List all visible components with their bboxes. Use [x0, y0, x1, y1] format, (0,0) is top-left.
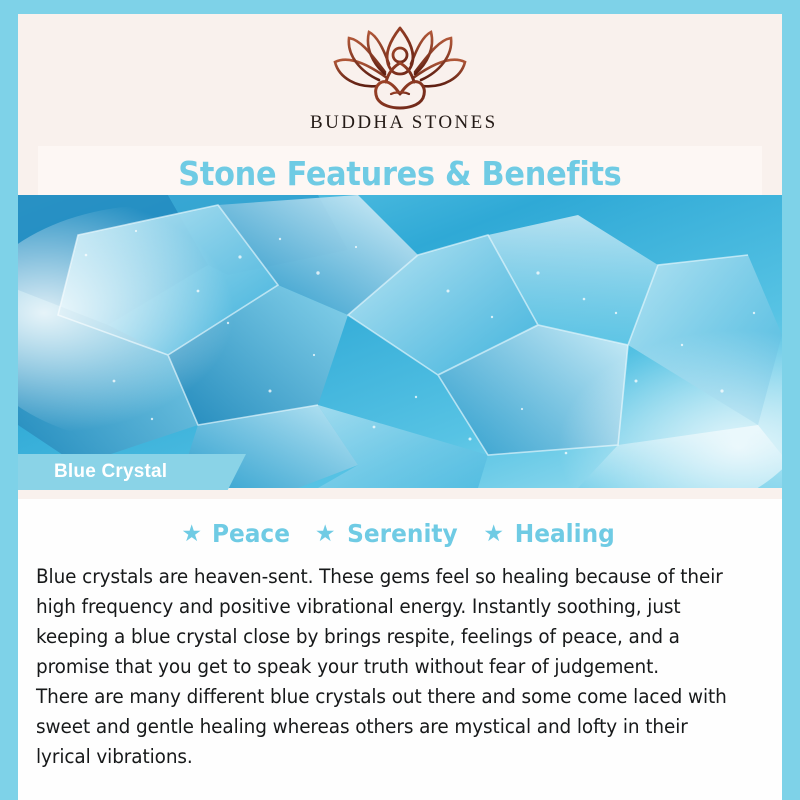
- description-text: Blue crystals are heaven-sent. These gem…: [36, 562, 743, 772]
- poster-root: BUDDHA STONES Stone Features & Benefits: [0, 0, 800, 800]
- stone-name-label: Blue Crystal: [54, 461, 167, 483]
- keyword-serenity: ★ Serenity: [315, 519, 462, 548]
- brand-logo: BUDDHA STONES: [310, 22, 490, 134]
- keyword-row: ★ Peace ★ Serenity ★ Healing: [18, 519, 782, 548]
- star-icon: ★: [315, 522, 336, 545]
- lotus-meditation-icon: [325, 22, 475, 110]
- keyword-healing: ★ Healing: [483, 519, 618, 548]
- title-band: Stone Features & Benefits: [38, 146, 762, 200]
- description-paragraph-1: Blue crystals are heaven-sent. These gem…: [36, 562, 743, 682]
- keyword-label: Serenity: [347, 519, 458, 548]
- hero-image: [18, 195, 782, 488]
- stone-name-ribbon: Blue Crystal: [18, 454, 246, 490]
- description-paragraph-2: There are many different blue crystals o…: [36, 682, 743, 772]
- keyword-label: Peace: [212, 519, 290, 548]
- brand-header: BUDDHA STONES: [18, 14, 782, 144]
- blue-crystal-illustration: [18, 195, 782, 488]
- keyword-peace: ★ Peace: [181, 519, 293, 548]
- page-title: Stone Features & Benefits: [178, 154, 621, 193]
- brand-name: BUDDHA STONES: [310, 112, 490, 134]
- star-icon: ★: [181, 522, 202, 545]
- star-icon: ★: [483, 522, 504, 545]
- content-card: BUDDHA STONES Stone Features & Benefits: [18, 14, 782, 800]
- keyword-label: Healing: [515, 519, 615, 548]
- description-panel: ★ Peace ★ Serenity ★ Healing Blue crysta…: [18, 499, 782, 800]
